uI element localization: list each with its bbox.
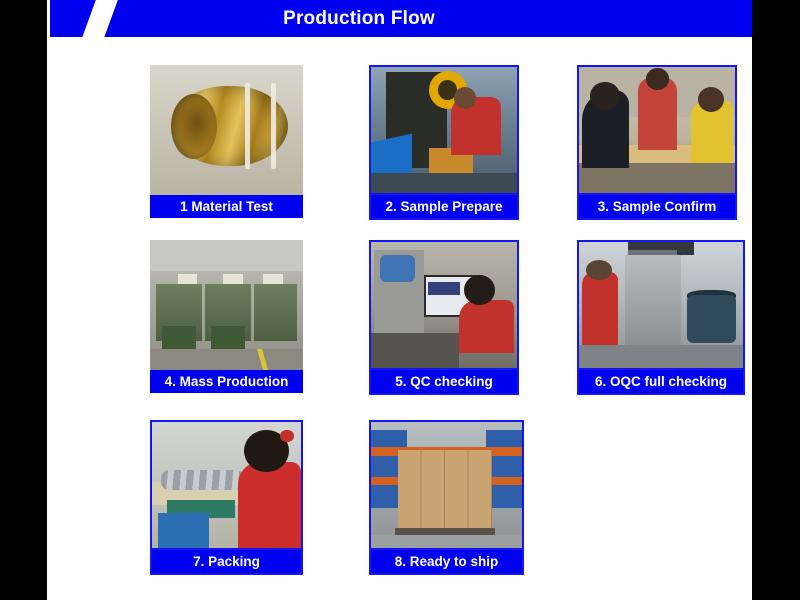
step-4-photo <box>150 240 303 370</box>
step-3-label: 3. Sample Confirm <box>577 195 737 220</box>
production-flow-grid: 1 Material Test 2. Sample Prepare <box>47 37 752 600</box>
page-title: Production Flow <box>50 0 752 37</box>
step-2-photo <box>369 65 519 195</box>
step-1-label: 1 Material Test <box>150 195 303 218</box>
flow-step-5[interactable]: 5. QC checking <box>369 240 519 395</box>
step-7-label: 7. Packing <box>150 550 303 575</box>
flow-step-7[interactable]: 7. Packing <box>150 420 303 575</box>
step-3-photo <box>577 65 737 195</box>
flow-step-6[interactable]: 6. OQC full checking <box>577 240 745 395</box>
step-1-photo <box>150 65 303 195</box>
step-8-photo <box>369 420 524 550</box>
flow-step-2[interactable]: 2. Sample Prepare <box>369 65 519 220</box>
flow-step-8[interactable]: 8. Ready to ship <box>369 420 524 575</box>
step-5-photo <box>369 240 519 370</box>
step-6-label: 6. OQC full checking <box>577 370 745 395</box>
flow-step-1[interactable]: 1 Material Test <box>150 65 303 218</box>
step-7-photo <box>150 420 303 550</box>
step-5-label: 5. QC checking <box>369 370 519 395</box>
step-4-label: 4. Mass Production <box>150 370 303 393</box>
step-2-label: 2. Sample Prepare <box>369 195 519 220</box>
flow-step-3[interactable]: 3. Sample Confirm <box>577 65 737 220</box>
flow-step-4[interactable]: 4. Mass Production <box>150 240 303 393</box>
slide-canvas: Production Flow 1 Material Test <box>47 0 752 600</box>
slide-header: Production Flow <box>50 0 752 37</box>
step-8-label: 8. Ready to ship <box>369 550 524 575</box>
step-6-photo <box>577 240 745 370</box>
